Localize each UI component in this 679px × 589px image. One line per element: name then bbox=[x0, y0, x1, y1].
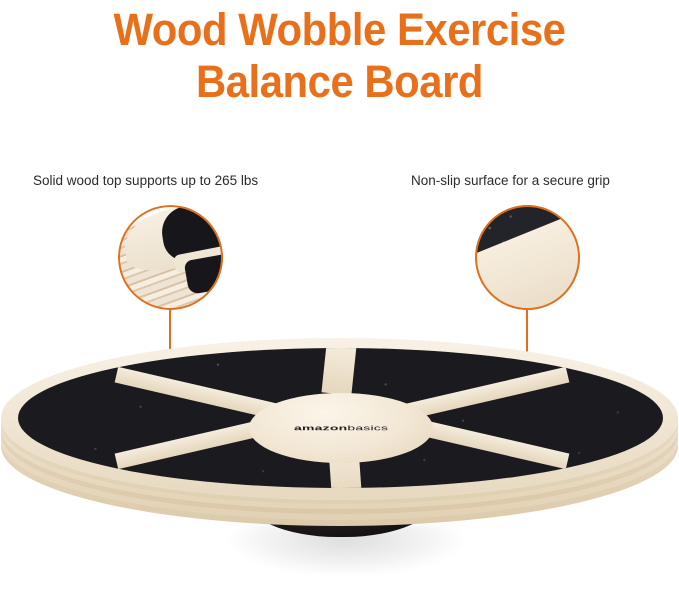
balance-board-product: amazonbasics bbox=[0, 318, 679, 589]
callout-circle-solid-wood bbox=[118, 205, 223, 310]
grit-macro-art bbox=[475, 205, 580, 310]
callout-circle-non-slip bbox=[475, 205, 580, 310]
plywood-macro-art bbox=[118, 205, 223, 310]
callout-detail-grit-surface bbox=[475, 205, 580, 310]
logo-basics-text: basics bbox=[347, 424, 388, 431]
callout-detail-plywood-edge bbox=[118, 205, 223, 310]
wood-spoke-top bbox=[321, 348, 356, 395]
callout-label-right: Non-slip surface for a secure grip bbox=[411, 173, 610, 189]
amazonbasics-logo: amazonbasics bbox=[294, 424, 388, 431]
board-top-surface: amazonbasics bbox=[1, 338, 678, 498]
title-line-2: Balance Board bbox=[24, 56, 655, 108]
center-hub: amazonbasics bbox=[249, 393, 433, 463]
product-image-canvas: Wood Wobble Exercise Balance Board Solid… bbox=[0, 0, 679, 589]
page-title: Wood Wobble Exercise Balance Board bbox=[24, 4, 655, 108]
callout-label-left: Solid wood top supports up to 265 lbs bbox=[33, 173, 258, 189]
logo-amazon-text: amazon bbox=[294, 424, 347, 431]
title-line-1: Wood Wobble Exercise bbox=[24, 4, 655, 56]
